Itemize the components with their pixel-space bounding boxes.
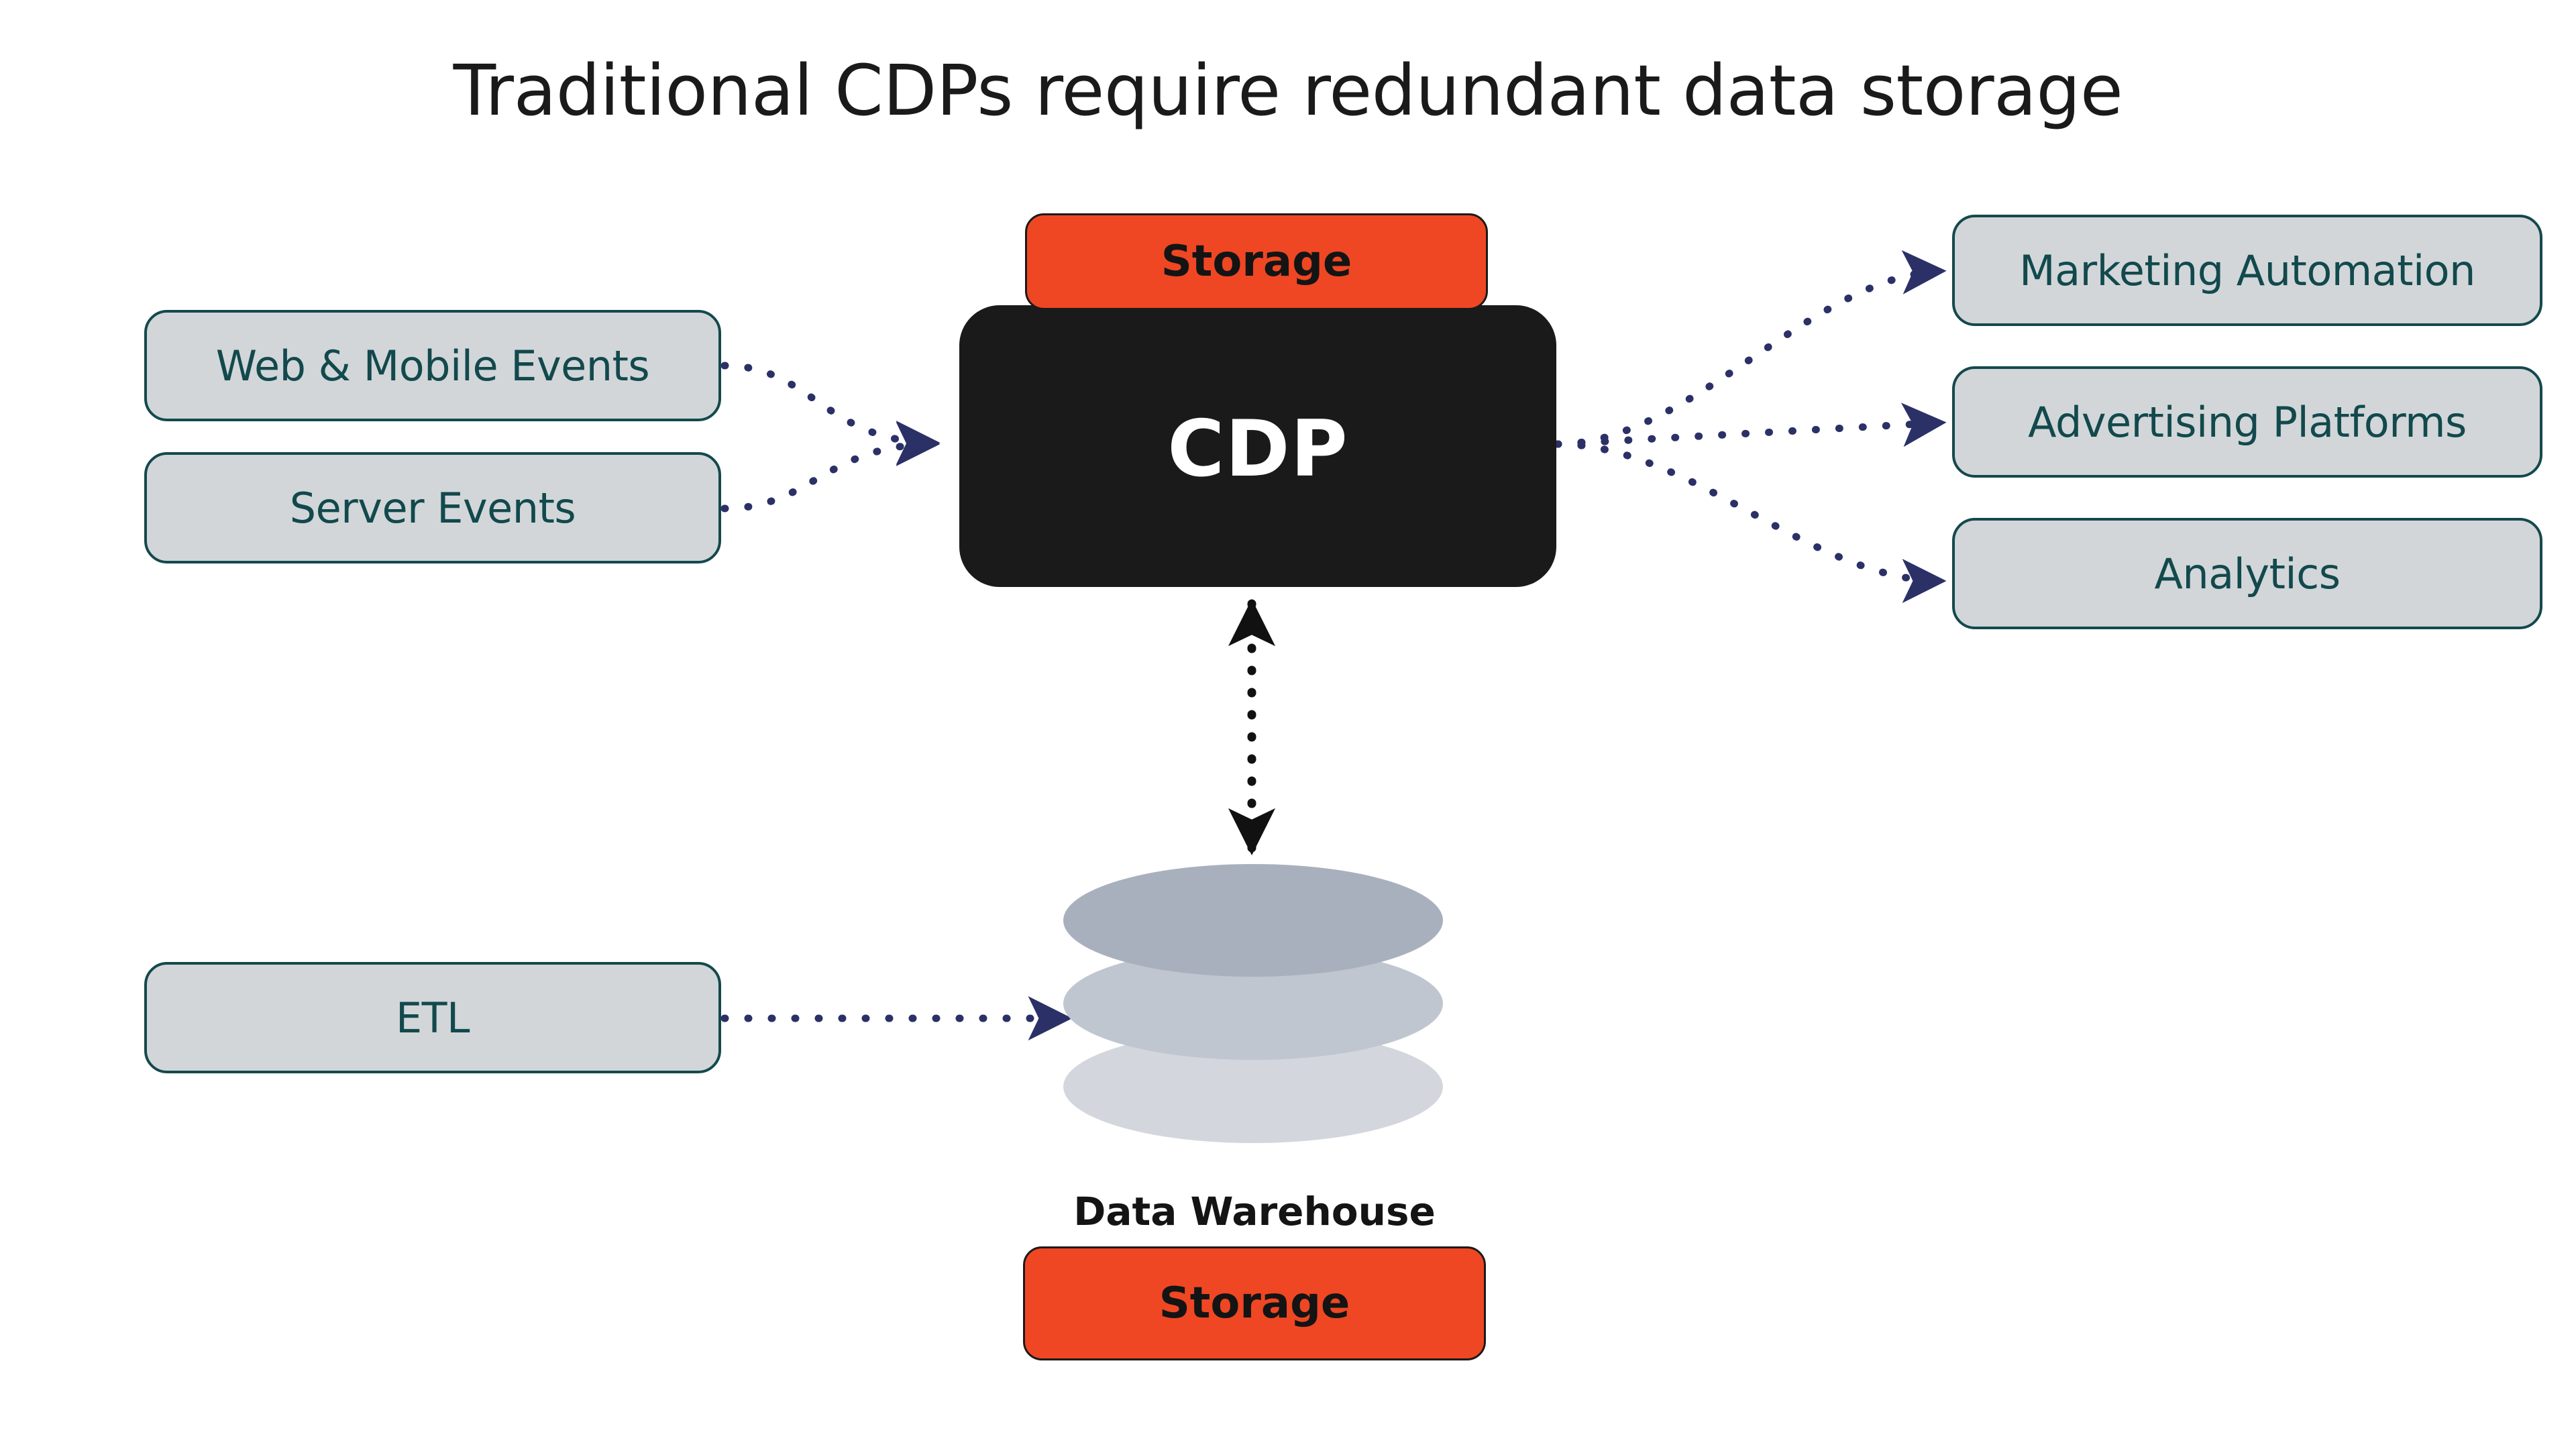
node-data-warehouse[interactable] — [1063, 864, 1443, 1152]
connector-cdp-to-advertising — [1558, 423, 1942, 444]
connector-web-to-cdp — [724, 366, 936, 443]
node-advertising-platforms[interactable]: Advertising Platforms — [1952, 366, 2542, 478]
warehouse-storage-badge: Storage — [1023, 1246, 1486, 1360]
node-analytics-label: Analytics — [2154, 549, 2340, 598]
connector-cdp-to-marketing — [1558, 271, 1942, 444]
warehouse-disc-top-icon — [1063, 864, 1443, 977]
node-server-events[interactable]: Server Events — [144, 452, 721, 563]
node-etl-label: ETL — [396, 994, 470, 1042]
diagram-canvas: Traditional CDPs require redundant data … — [0, 0, 2576, 1449]
warehouse-storage-badge-label: Storage — [1159, 1279, 1350, 1328]
data-warehouse-label: Data Warehouse — [1020, 1189, 1489, 1234]
node-marketing-automation-label: Marketing Automation — [2019, 246, 2475, 295]
cdp-storage-badge: Storage — [1025, 213, 1488, 310]
node-marketing-automation[interactable]: Marketing Automation — [1952, 215, 2542, 326]
connector-server-to-cdp — [724, 444, 936, 508]
node-web-mobile-events-label: Web & Mobile Events — [216, 341, 649, 390]
page-title: Traditional CDPs require redundant data … — [0, 52, 2576, 129]
node-analytics[interactable]: Analytics — [1952, 518, 2542, 629]
node-server-events-label: Server Events — [290, 484, 576, 533]
node-cdp-label: CDP — [1167, 404, 1348, 494]
node-advertising-platforms-label: Advertising Platforms — [2028, 398, 2467, 447]
node-cdp[interactable]: CDP — [959, 305, 1556, 587]
connector-cdp-to-analytics — [1558, 444, 1942, 581]
node-etl[interactable]: ETL — [144, 962, 721, 1073]
cdp-storage-badge-label: Storage — [1161, 237, 1352, 286]
node-web-mobile-events[interactable]: Web & Mobile Events — [144, 310, 721, 421]
